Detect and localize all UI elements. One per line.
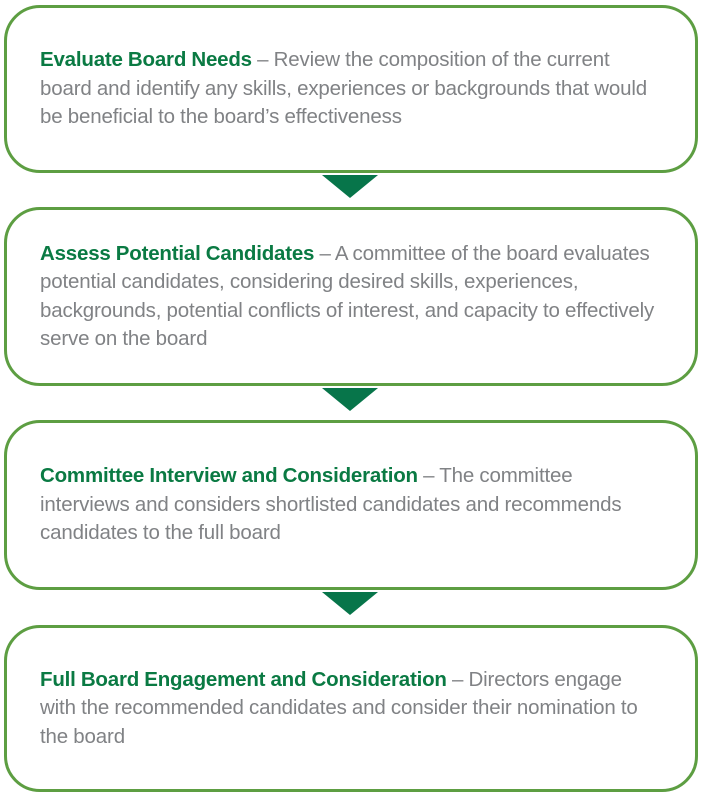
process-step-1-dash: –	[252, 48, 274, 71]
process-step-4-title: Full Board Engagement and Consideration	[40, 668, 447, 691]
down-arrow-icon-3	[322, 592, 378, 615]
process-step-1: Evaluate Board Needs – Review the compos…	[4, 5, 698, 173]
process-step-4: Full Board Engagement and Consideration …	[4, 625, 698, 792]
process-step-3-dash: –	[418, 464, 439, 487]
down-arrow-icon-1	[322, 175, 378, 198]
process-step-4-text: Full Board Engagement and Consideration …	[7, 666, 695, 752]
process-step-3-title: Committee Interview and Consideration	[40, 464, 418, 487]
process-step-2-text: Assess Potential Candidates – A committe…	[7, 240, 695, 354]
process-step-2-dash: –	[314, 242, 335, 265]
process-step-3: Committee Interview and Consideration – …	[4, 420, 698, 590]
process-step-4-dash: –	[447, 668, 469, 691]
process-step-2-title: Assess Potential Candidates	[40, 242, 314, 265]
process-step-1-text: Evaluate Board Needs – Review the compos…	[7, 46, 695, 132]
process-step-3-text: Committee Interview and Consideration – …	[7, 462, 695, 548]
process-flow-diagram: Evaluate Board Needs – Review the compos…	[0, 0, 702, 798]
process-step-1-title: Evaluate Board Needs	[40, 48, 252, 71]
down-arrow-icon-2	[322, 388, 378, 411]
process-step-2: Assess Potential Candidates – A committe…	[4, 207, 698, 386]
